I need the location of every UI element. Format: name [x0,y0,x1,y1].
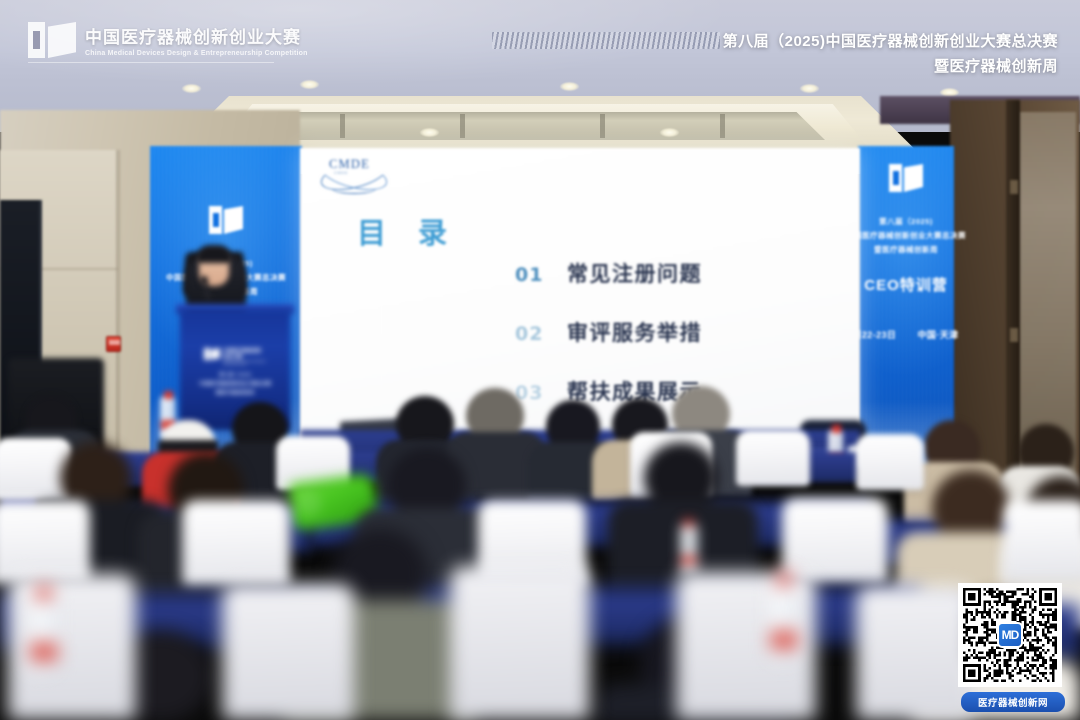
water-bottle [30,596,56,672]
event-title-line2: 暨医疗器械创新周 [723,55,1058,80]
speaker-hair-top [196,245,232,263]
watermark-logo: 中国医疗器械创新创业大赛 China Medical Devices Desig… [28,22,308,58]
competition-banner-icon [28,22,76,58]
audience-chair [736,430,810,486]
qr-center-logo: MD [997,622,1023,648]
ceiling-rib [340,114,345,138]
audience-chair [8,574,136,720]
slide-title: 目 录 [357,210,459,252]
watermark-divider [28,62,274,63]
competition-banner-icon [889,164,923,192]
toc-number: 01 [515,264,567,286]
audience-chair [222,584,354,720]
toc-number: 02 [515,323,567,345]
podium-line3: 暨医疗器械创新周 [180,390,290,399]
event-title-overlay: 第八届（2025)中国医疗器械创新创业大赛总决赛 暨医疗器械创新周 [723,30,1058,80]
water-bottle [680,524,698,574]
audience-chair [0,500,90,584]
podium-text: 第八届（2025) 中国医疗器械创新创业大赛总决赛 暨医疗器械创新周 [180,372,290,399]
toc-item: 02 审评服务举措 [515,317,845,376]
cmde-logo-subtext: CMDE [334,170,348,175]
watermark-title-en: China Medical Devices Design & Entrepren… [85,50,308,57]
ceiling-downlight [420,128,439,137]
backdrop-right-location: 中国·天津 [906,328,970,341]
cmde-logo-icon: CMDE CMDE [318,156,390,196]
podium-line2: 中国医疗器械创新创业大赛总决赛 [180,381,290,390]
water-bottle [770,582,796,660]
ceiling-air-vent [492,32,720,49]
ceiling-downlight [660,128,679,137]
qr-code[interactable]: MD [958,583,1062,687]
fire-alarm-box [106,336,121,352]
wall-seam [118,150,120,450]
watermark-title-cn: 中国医疗器械创新创业大赛 [85,23,308,48]
audience-chair [856,434,924,490]
ceiling-downlight [182,84,201,93]
audience-chair [856,586,972,720]
backdrop-right-headline: CEO特训营 [844,274,968,295]
door-frame [1006,100,1020,500]
toc-label: 审评服务举措 [567,317,702,347]
ceiling-rib [720,114,725,138]
competition-banner-icon [209,206,243,234]
audience-chair [450,566,590,720]
door-hinge [1010,328,1018,342]
ceiling-downlight [800,84,819,93]
toc-number: 03 [515,382,567,404]
conference-photo: 第八届（2025) 中国医疗器械创新创业大赛总决赛 暨医疗器械创新周 第八届（2… [0,0,1080,720]
podium-logo-text: 中国医疗器械创新创业大赛China Medical Devices Design… [223,348,266,366]
podium-line1: 第八届（2025) [180,372,290,381]
audience-chair [182,500,290,586]
door-hinge [1010,180,1018,194]
ceiling-rib [600,114,605,138]
ceiling-downlight [560,82,579,91]
podium-logo-icon: 中国医疗器械创新创业大赛China Medical Devices Design… [204,348,266,360]
microphone-head [200,276,208,285]
event-title-line1: 第八届（2025)中国医疗器械创新创业大赛总决赛 [723,30,1058,55]
toc-item: 01 常见注册问题 [515,258,845,317]
ceiling-downlight [300,80,319,89]
toc-label: 常见注册问题 [567,258,702,288]
audience-chair [1004,500,1080,580]
qr-code-block[interactable]: MD 医疗器械创新网 [958,583,1068,712]
ceiling-rib [460,114,465,138]
qr-label: 医疗器械创新网 [961,692,1065,712]
